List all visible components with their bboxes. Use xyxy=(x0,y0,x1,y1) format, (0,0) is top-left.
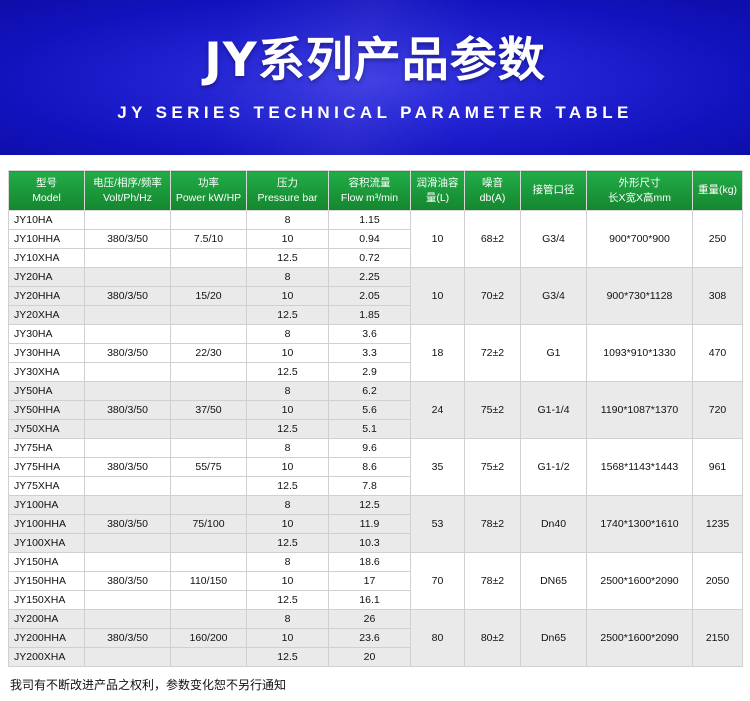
cell-power xyxy=(171,363,247,382)
cell-flow: 23.6 xyxy=(329,629,411,648)
cell-dimension: 1093*910*1330 xyxy=(587,325,693,382)
cell-port: DN65 xyxy=(521,553,587,610)
cell-oil: 10 xyxy=(411,211,465,268)
cell-dimension: 1190*1087*1370 xyxy=(587,382,693,439)
cell-volt xyxy=(85,439,171,458)
table-row: JY200HA8268080±2Dn652500*1600*20902150 xyxy=(9,610,743,629)
cell-pressure: 12.5 xyxy=(247,648,329,667)
cell-weight: 720 xyxy=(693,382,743,439)
cell-pressure: 10 xyxy=(247,344,329,363)
cell-oil: 80 xyxy=(411,610,465,667)
cell-pressure: 10 xyxy=(247,287,329,306)
cell-pressure: 12.5 xyxy=(247,420,329,439)
col-header-power-cn: 功率 xyxy=(172,176,245,190)
table-row: JY10HA81.151068±2G3/4900*700*900250 xyxy=(9,211,743,230)
cell-model: JY30XHA xyxy=(9,363,85,382)
cell-power: 7.5/10 xyxy=(171,230,247,249)
cell-pressure: 10 xyxy=(247,515,329,534)
cell-power xyxy=(171,249,247,268)
cell-pressure: 12.5 xyxy=(247,306,329,325)
col-header-port-cn: 接管口径 xyxy=(522,183,585,197)
cell-dimension: 1568*1143*1443 xyxy=(587,439,693,496)
cell-model: JY10HHA xyxy=(9,230,85,249)
cell-pressure: 12.5 xyxy=(247,363,329,382)
col-header-flow: 容积流量 Flow m³/min xyxy=(329,171,411,211)
cell-port: G3/4 xyxy=(521,211,587,268)
cell-weight: 1235 xyxy=(693,496,743,553)
cell-port: G1 xyxy=(521,325,587,382)
table-row: JY75HA89.63575±2G1-1/21568*1143*1443961 xyxy=(9,439,743,458)
cell-volt xyxy=(85,306,171,325)
cell-volt: 380/3/50 xyxy=(85,401,171,420)
cell-dimension: 1740*1300*1610 xyxy=(587,496,693,553)
cell-volt xyxy=(85,477,171,496)
col-header-port: 接管口径 xyxy=(521,171,587,211)
cell-model: JY30HA xyxy=(9,325,85,344)
cell-flow: 5.6 xyxy=(329,401,411,420)
cell-flow: 1.15 xyxy=(329,211,411,230)
cell-noise: 72±2 xyxy=(465,325,521,382)
cell-noise: 75±2 xyxy=(465,439,521,496)
cell-model: JY200HA xyxy=(9,610,85,629)
cell-volt xyxy=(85,610,171,629)
cell-port: Dn40 xyxy=(521,496,587,553)
cell-weight: 308 xyxy=(693,268,743,325)
cell-dimension: 2500*1600*2090 xyxy=(587,610,693,667)
col-header-noise-cn: 噪音 xyxy=(466,176,519,190)
cell-model: JY150HA xyxy=(9,553,85,572)
cell-pressure: 10 xyxy=(247,401,329,420)
col-header-volt: 电压/相序/频率 Volt/Ph/Hz xyxy=(85,171,171,211)
cell-model: JY20HA xyxy=(9,268,85,287)
cell-port: Dn65 xyxy=(521,610,587,667)
col-header-model: 型号 Model xyxy=(9,171,85,211)
cell-flow: 10.3 xyxy=(329,534,411,553)
cell-dimension: 2500*1600*2090 xyxy=(587,553,693,610)
col-header-pressure: 压力 Pressure bar xyxy=(247,171,329,211)
cell-pressure: 10 xyxy=(247,572,329,591)
cell-flow: 18.6 xyxy=(329,553,411,572)
cell-power: 160/200 xyxy=(171,629,247,648)
cell-port: G1-1/4 xyxy=(521,382,587,439)
header-row: 型号 Model 电压/相序/频率 Volt/Ph/Hz 功率 Power kW… xyxy=(9,171,743,211)
cell-model: JY100XHA xyxy=(9,534,85,553)
cell-pressure: 12.5 xyxy=(247,534,329,553)
cell-model: JY75HHA xyxy=(9,458,85,477)
cell-power: 110/150 xyxy=(171,572,247,591)
cell-volt: 380/3/50 xyxy=(85,515,171,534)
cell-model: JY200XHA xyxy=(9,648,85,667)
cell-model: JY10XHA xyxy=(9,249,85,268)
cell-pressure: 8 xyxy=(247,325,329,344)
cell-power xyxy=(171,648,247,667)
col-header-flow-en: Flow m³/min xyxy=(330,191,409,205)
spec-table-head: 型号 Model 电压/相序/频率 Volt/Ph/Hz 功率 Power kW… xyxy=(9,171,743,211)
col-header-weight: 重量(kg) xyxy=(693,171,743,211)
banner-title: JY系列产品参数 xyxy=(0,36,750,85)
cell-model: JY100HHA xyxy=(9,515,85,534)
cell-model: JY10HA xyxy=(9,211,85,230)
cell-power: 15/20 xyxy=(171,287,247,306)
cell-pressure: 10 xyxy=(247,629,329,648)
cell-power: 37/50 xyxy=(171,401,247,420)
cell-power xyxy=(171,439,247,458)
cell-power xyxy=(171,382,247,401)
col-header-dimension-en: 长X宽X高mm xyxy=(588,191,691,205)
cell-flow: 1.85 xyxy=(329,306,411,325)
footnote: 我司有不断改进产品之权利，参数变化恕不另行通知 xyxy=(10,676,750,693)
cell-volt xyxy=(85,534,171,553)
cell-oil: 24 xyxy=(411,382,465,439)
cell-flow: 3.3 xyxy=(329,344,411,363)
cell-volt xyxy=(85,249,171,268)
table-row: JY50HA86.22475±2G1-1/41190*1087*1370720 xyxy=(9,382,743,401)
cell-model: JY30HHA xyxy=(9,344,85,363)
cell-volt: 380/3/50 xyxy=(85,458,171,477)
cell-flow: 3.6 xyxy=(329,325,411,344)
cell-weight: 961 xyxy=(693,439,743,496)
cell-volt xyxy=(85,382,171,401)
cell-power xyxy=(171,477,247,496)
cell-oil: 35 xyxy=(411,439,465,496)
cell-power: 22/30 xyxy=(171,344,247,363)
cell-dimension: 900*700*900 xyxy=(587,211,693,268)
cell-model: JY150XHA xyxy=(9,591,85,610)
cell-pressure: 10 xyxy=(247,230,329,249)
cell-port: G1-1/2 xyxy=(521,439,587,496)
table-row: JY30HA83.61872±2G11093*910*1330470 xyxy=(9,325,743,344)
page-root: JY系列产品参数 JY SERIES TECHNICAL PARAMETER T… xyxy=(0,0,750,701)
col-header-dimension-cn: 外形尺寸 xyxy=(588,176,691,190)
cell-model: JY100HA xyxy=(9,496,85,515)
cell-flow: 2.9 xyxy=(329,363,411,382)
cell-flow: 11.9 xyxy=(329,515,411,534)
cell-power xyxy=(171,420,247,439)
cell-weight: 2150 xyxy=(693,610,743,667)
col-header-volt-cn: 电压/相序/频率 xyxy=(86,176,169,190)
cell-pressure: 8 xyxy=(247,268,329,287)
cell-power xyxy=(171,268,247,287)
cell-dimension: 900*730*1128 xyxy=(587,268,693,325)
cell-pressure: 8 xyxy=(247,211,329,230)
cell-power xyxy=(171,553,247,572)
table-row: JY100HA812.55378±2Dn401740*1300*16101235 xyxy=(9,496,743,515)
col-header-oil: 润滑油容量(L) xyxy=(411,171,465,211)
cell-flow: 20 xyxy=(329,648,411,667)
col-header-pressure-cn: 压力 xyxy=(248,176,327,190)
cell-flow: 7.8 xyxy=(329,477,411,496)
cell-power xyxy=(171,534,247,553)
col-header-volt-en: Volt/Ph/Hz xyxy=(86,191,169,205)
cell-pressure: 8 xyxy=(247,439,329,458)
col-header-noise-en: db(A) xyxy=(466,191,519,205)
cell-flow: 0.94 xyxy=(329,230,411,249)
cell-power xyxy=(171,591,247,610)
cell-flow: 0.72 xyxy=(329,249,411,268)
table-row: JY150HA818.67078±2DN652500*1600*20902050 xyxy=(9,553,743,572)
cell-model: JY75HA xyxy=(9,439,85,458)
cell-oil: 53 xyxy=(411,496,465,553)
cell-power: 55/75 xyxy=(171,458,247,477)
cell-model: JY50XHA xyxy=(9,420,85,439)
cell-oil: 10 xyxy=(411,268,465,325)
cell-flow: 26 xyxy=(329,610,411,629)
cell-volt xyxy=(85,211,171,230)
col-header-power-en: Power kW/HP xyxy=(172,191,245,205)
col-header-power: 功率 Power kW/HP xyxy=(171,171,247,211)
cell-model: JY20HHA xyxy=(9,287,85,306)
cell-flow: 12.5 xyxy=(329,496,411,515)
cell-pressure: 8 xyxy=(247,610,329,629)
cell-noise: 78±2 xyxy=(465,496,521,553)
cell-power xyxy=(171,306,247,325)
cell-power: 75/100 xyxy=(171,515,247,534)
cell-flow: 17 xyxy=(329,572,411,591)
spec-table-container: 型号 Model 电压/相序/频率 Volt/Ph/Hz 功率 Power kW… xyxy=(0,155,750,667)
cell-pressure: 8 xyxy=(247,496,329,515)
cell-volt: 380/3/50 xyxy=(85,344,171,363)
cell-volt: 380/3/50 xyxy=(85,287,171,306)
cell-volt xyxy=(85,496,171,515)
cell-volt xyxy=(85,591,171,610)
cell-volt: 380/3/50 xyxy=(85,629,171,648)
cell-weight: 250 xyxy=(693,211,743,268)
cell-flow: 2.05 xyxy=(329,287,411,306)
cell-power xyxy=(171,610,247,629)
cell-volt xyxy=(85,420,171,439)
cell-flow: 5.1 xyxy=(329,420,411,439)
cell-pressure: 12.5 xyxy=(247,477,329,496)
cell-power xyxy=(171,325,247,344)
cell-power xyxy=(171,211,247,230)
cell-pressure: 12.5 xyxy=(247,249,329,268)
cell-oil: 70 xyxy=(411,553,465,610)
col-header-pressure-en: Pressure bar xyxy=(248,191,327,205)
cell-flow: 6.2 xyxy=(329,382,411,401)
cell-volt: 380/3/50 xyxy=(85,230,171,249)
cell-model: JY150HHA xyxy=(9,572,85,591)
spec-table-body: JY10HA81.151068±2G3/4900*700*900250JY10H… xyxy=(9,211,743,667)
table-row: JY20HA82.251070±2G3/4900*730*1128308 xyxy=(9,268,743,287)
cell-pressure: 10 xyxy=(247,458,329,477)
cell-volt xyxy=(85,268,171,287)
cell-volt xyxy=(85,648,171,667)
cell-noise: 75±2 xyxy=(465,382,521,439)
cell-model: JY200HHA xyxy=(9,629,85,648)
cell-power xyxy=(171,496,247,515)
cell-volt xyxy=(85,325,171,344)
cell-weight: 470 xyxy=(693,325,743,382)
cell-flow: 16.1 xyxy=(329,591,411,610)
cell-flow: 8.6 xyxy=(329,458,411,477)
col-header-weight-cn: 重量(kg) xyxy=(694,183,741,197)
cell-volt xyxy=(85,553,171,572)
cell-flow: 9.6 xyxy=(329,439,411,458)
col-header-noise: 噪音 db(A) xyxy=(465,171,521,211)
cell-pressure: 8 xyxy=(247,553,329,572)
header-banner: JY系列产品参数 JY SERIES TECHNICAL PARAMETER T… xyxy=(0,0,750,155)
cell-flow: 2.25 xyxy=(329,268,411,287)
cell-pressure: 8 xyxy=(247,382,329,401)
cell-weight: 2050 xyxy=(693,553,743,610)
cell-model: JY75XHA xyxy=(9,477,85,496)
col-header-flow-cn: 容积流量 xyxy=(330,176,409,190)
cell-model: JY20XHA xyxy=(9,306,85,325)
col-header-model-cn: 型号 xyxy=(10,176,83,190)
cell-model: JY50HA xyxy=(9,382,85,401)
cell-oil: 18 xyxy=(411,325,465,382)
cell-volt: 380/3/50 xyxy=(85,572,171,591)
col-header-dimension: 外形尺寸 长X宽X高mm xyxy=(587,171,693,211)
cell-noise: 68±2 xyxy=(465,211,521,268)
cell-noise: 78±2 xyxy=(465,553,521,610)
cell-noise: 70±2 xyxy=(465,268,521,325)
cell-noise: 80±2 xyxy=(465,610,521,667)
cell-pressure: 12.5 xyxy=(247,591,329,610)
cell-volt xyxy=(85,363,171,382)
banner-subtitle: JY SERIES TECHNICAL PARAMETER TABLE xyxy=(0,103,750,123)
cell-model: JY50HHA xyxy=(9,401,85,420)
spec-table: 型号 Model 电压/相序/频率 Volt/Ph/Hz 功率 Power kW… xyxy=(8,170,743,667)
col-header-model-en: Model xyxy=(10,191,83,205)
col-header-oil-cn: 润滑油容量(L) xyxy=(412,176,463,204)
cell-port: G3/4 xyxy=(521,268,587,325)
